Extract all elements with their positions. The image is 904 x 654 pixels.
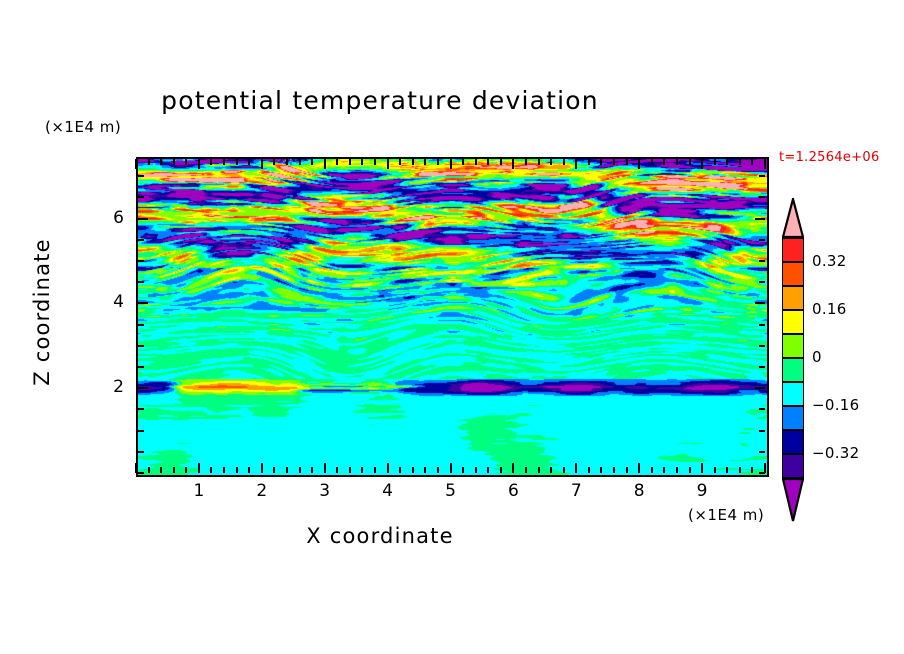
x-tick	[412, 159, 414, 165]
x-tick	[173, 159, 175, 165]
y-tick	[138, 324, 144, 326]
x-tick	[223, 467, 225, 473]
x-tick	[324, 463, 326, 473]
x-tick	[638, 159, 640, 169]
x-tick	[210, 159, 212, 165]
y-tick	[755, 302, 765, 304]
y-tick	[138, 218, 148, 220]
x-tick	[299, 467, 301, 473]
x-tick	[487, 159, 489, 165]
x-tick	[160, 159, 162, 165]
x-tick	[336, 467, 338, 473]
y-tick	[138, 196, 144, 198]
x-axis-unit-label: (×1E4 m)	[688, 506, 764, 524]
x-tick	[563, 159, 565, 165]
x-tick	[588, 467, 590, 473]
x-tick	[261, 159, 263, 169]
contour-plot-area[interactable]	[136, 157, 769, 477]
x-tick	[299, 159, 301, 165]
x-tick	[462, 467, 464, 473]
y-tick	[759, 175, 765, 177]
x-tick	[336, 159, 338, 165]
x-tick	[223, 159, 225, 165]
y-tick	[138, 451, 144, 453]
y-tick-label: 6	[84, 208, 124, 228]
y-tick	[759, 451, 765, 453]
z-axis-unit-label: (×1E4 m)	[45, 118, 121, 136]
colorbar-cell	[782, 310, 804, 334]
x-tick	[437, 467, 439, 473]
colorbar-cell	[782, 262, 804, 286]
x-tick	[387, 159, 389, 169]
x-tick	[374, 467, 376, 473]
x-axis-title: X coordinate	[0, 524, 760, 548]
x-tick	[135, 159, 137, 169]
colorbar-cell	[782, 286, 804, 310]
x-tick-label: 2	[242, 481, 282, 501]
x-tick	[701, 159, 703, 169]
x-tick	[575, 159, 577, 169]
colorbar-cell	[782, 382, 804, 406]
colorbar-under-arrow	[782, 478, 804, 522]
x-tick	[273, 159, 275, 165]
x-tick-label: 1	[179, 481, 219, 501]
x-tick	[613, 467, 615, 473]
x-tick	[462, 159, 464, 165]
x-tick	[512, 463, 514, 473]
x-tick	[563, 467, 565, 473]
x-tick	[550, 159, 552, 165]
y-tick-label: 4	[84, 292, 124, 312]
x-tick	[261, 463, 263, 473]
x-tick	[651, 159, 653, 165]
x-tick	[550, 467, 552, 473]
y-tick	[138, 239, 144, 241]
y-tick	[759, 239, 765, 241]
x-tick	[185, 467, 187, 473]
x-tick	[663, 467, 665, 473]
x-tick-label: 4	[368, 481, 408, 501]
x-tick	[160, 467, 162, 473]
colorbar-cell	[782, 406, 804, 430]
colorbar-bands	[782, 238, 804, 478]
y-axis-title: Z coordinate	[30, 212, 54, 412]
colorbar-cell	[782, 334, 804, 358]
y-tick	[138, 366, 144, 368]
x-tick	[198, 159, 200, 169]
x-tick	[651, 467, 653, 473]
x-tick	[764, 159, 766, 169]
x-tick	[198, 463, 200, 473]
page-title: potential temperature deviation	[0, 86, 760, 115]
x-tick	[374, 159, 376, 165]
x-tick	[236, 159, 238, 165]
x-tick	[500, 467, 502, 473]
x-tick	[286, 159, 288, 165]
x-tick	[726, 159, 728, 165]
x-tick	[626, 467, 628, 473]
colorbar-label: 0	[812, 348, 822, 366]
x-tick	[349, 159, 351, 165]
x-tick	[689, 159, 691, 165]
x-tick	[399, 467, 401, 473]
x-tick	[450, 463, 452, 473]
x-tick	[487, 467, 489, 473]
x-tick	[248, 467, 250, 473]
x-tick	[424, 467, 426, 473]
colorbar-label: −0.16	[812, 396, 859, 414]
y-tick-label: 2	[84, 377, 124, 397]
y-tick	[759, 324, 765, 326]
colorbar[interactable]: 0.320.160−0.16−0.32	[770, 196, 900, 516]
y-tick	[759, 260, 765, 262]
x-tick	[387, 463, 389, 473]
colorbar-cell	[782, 430, 804, 454]
x-tick	[412, 467, 414, 473]
x-tick	[324, 159, 326, 169]
x-tick	[663, 159, 665, 165]
y-tick	[138, 472, 144, 474]
x-tick	[437, 159, 439, 165]
x-tick	[236, 467, 238, 473]
y-tick	[759, 196, 765, 198]
y-tick	[138, 175, 144, 177]
colorbar-cell	[782, 454, 804, 478]
x-tick	[538, 467, 540, 473]
x-tick	[701, 463, 703, 473]
x-tick	[638, 463, 640, 473]
x-tick	[475, 159, 477, 165]
time-annotation: t=1.2564e+06	[779, 150, 880, 165]
x-tick	[273, 467, 275, 473]
x-tick-label: 6	[493, 481, 533, 501]
x-tick	[311, 467, 313, 473]
y-tick	[759, 430, 765, 432]
x-tick-label: 9	[682, 481, 722, 501]
y-tick	[755, 218, 765, 220]
y-tick	[759, 408, 765, 410]
x-tick	[248, 159, 250, 165]
x-tick	[751, 467, 753, 473]
colorbar-cell	[782, 358, 804, 382]
x-tick	[689, 467, 691, 473]
x-tick	[613, 159, 615, 165]
x-tick	[424, 159, 426, 165]
colorbar-cell	[782, 238, 804, 262]
x-tick	[676, 467, 678, 473]
x-tick	[600, 159, 602, 165]
y-tick	[138, 408, 144, 410]
x-tick	[475, 467, 477, 473]
y-tick	[138, 430, 144, 432]
x-tick	[148, 159, 150, 165]
y-tick	[138, 260, 144, 262]
contour-figure: potential temperature deviation (×1E4 m)…	[0, 0, 904, 654]
y-tick	[755, 387, 765, 389]
colorbar-label: 0.16	[812, 300, 847, 318]
x-tick	[714, 467, 716, 473]
y-tick	[759, 281, 765, 283]
x-tick	[450, 159, 452, 169]
x-tick	[600, 467, 602, 473]
x-tick	[538, 159, 540, 165]
x-tick	[210, 467, 212, 473]
x-tick	[311, 159, 313, 165]
x-tick	[185, 159, 187, 165]
colorbar-over-arrow	[782, 198, 804, 238]
y-tick	[759, 366, 765, 368]
y-tick	[759, 472, 765, 474]
x-tick	[739, 467, 741, 473]
y-tick	[138, 281, 144, 283]
colorbar-label: −0.32	[812, 444, 859, 462]
x-tick	[361, 159, 363, 165]
x-tick-label: 8	[619, 481, 659, 501]
x-tick	[361, 467, 363, 473]
x-tick	[676, 159, 678, 165]
y-tick	[138, 387, 148, 389]
x-tick	[500, 159, 502, 165]
x-tick	[173, 467, 175, 473]
x-tick-label: 7	[556, 481, 596, 501]
x-tick	[399, 159, 401, 165]
y-tick	[138, 345, 144, 347]
x-tick-label: 3	[305, 481, 345, 501]
x-tick	[739, 159, 741, 165]
x-tick	[512, 159, 514, 169]
contour-field-canvas	[138, 159, 767, 475]
x-tick	[575, 463, 577, 473]
x-tick	[588, 159, 590, 165]
x-tick	[751, 159, 753, 165]
colorbar-label: 0.32	[812, 252, 847, 270]
x-tick	[286, 467, 288, 473]
x-tick	[148, 467, 150, 473]
x-tick	[525, 159, 527, 165]
x-tick	[135, 463, 137, 473]
y-tick	[759, 345, 765, 347]
x-tick-label: 5	[431, 481, 471, 501]
x-tick	[714, 159, 716, 165]
x-tick	[349, 467, 351, 473]
x-tick	[525, 467, 527, 473]
x-tick	[726, 467, 728, 473]
y-tick	[138, 302, 148, 304]
x-tick	[626, 159, 628, 165]
